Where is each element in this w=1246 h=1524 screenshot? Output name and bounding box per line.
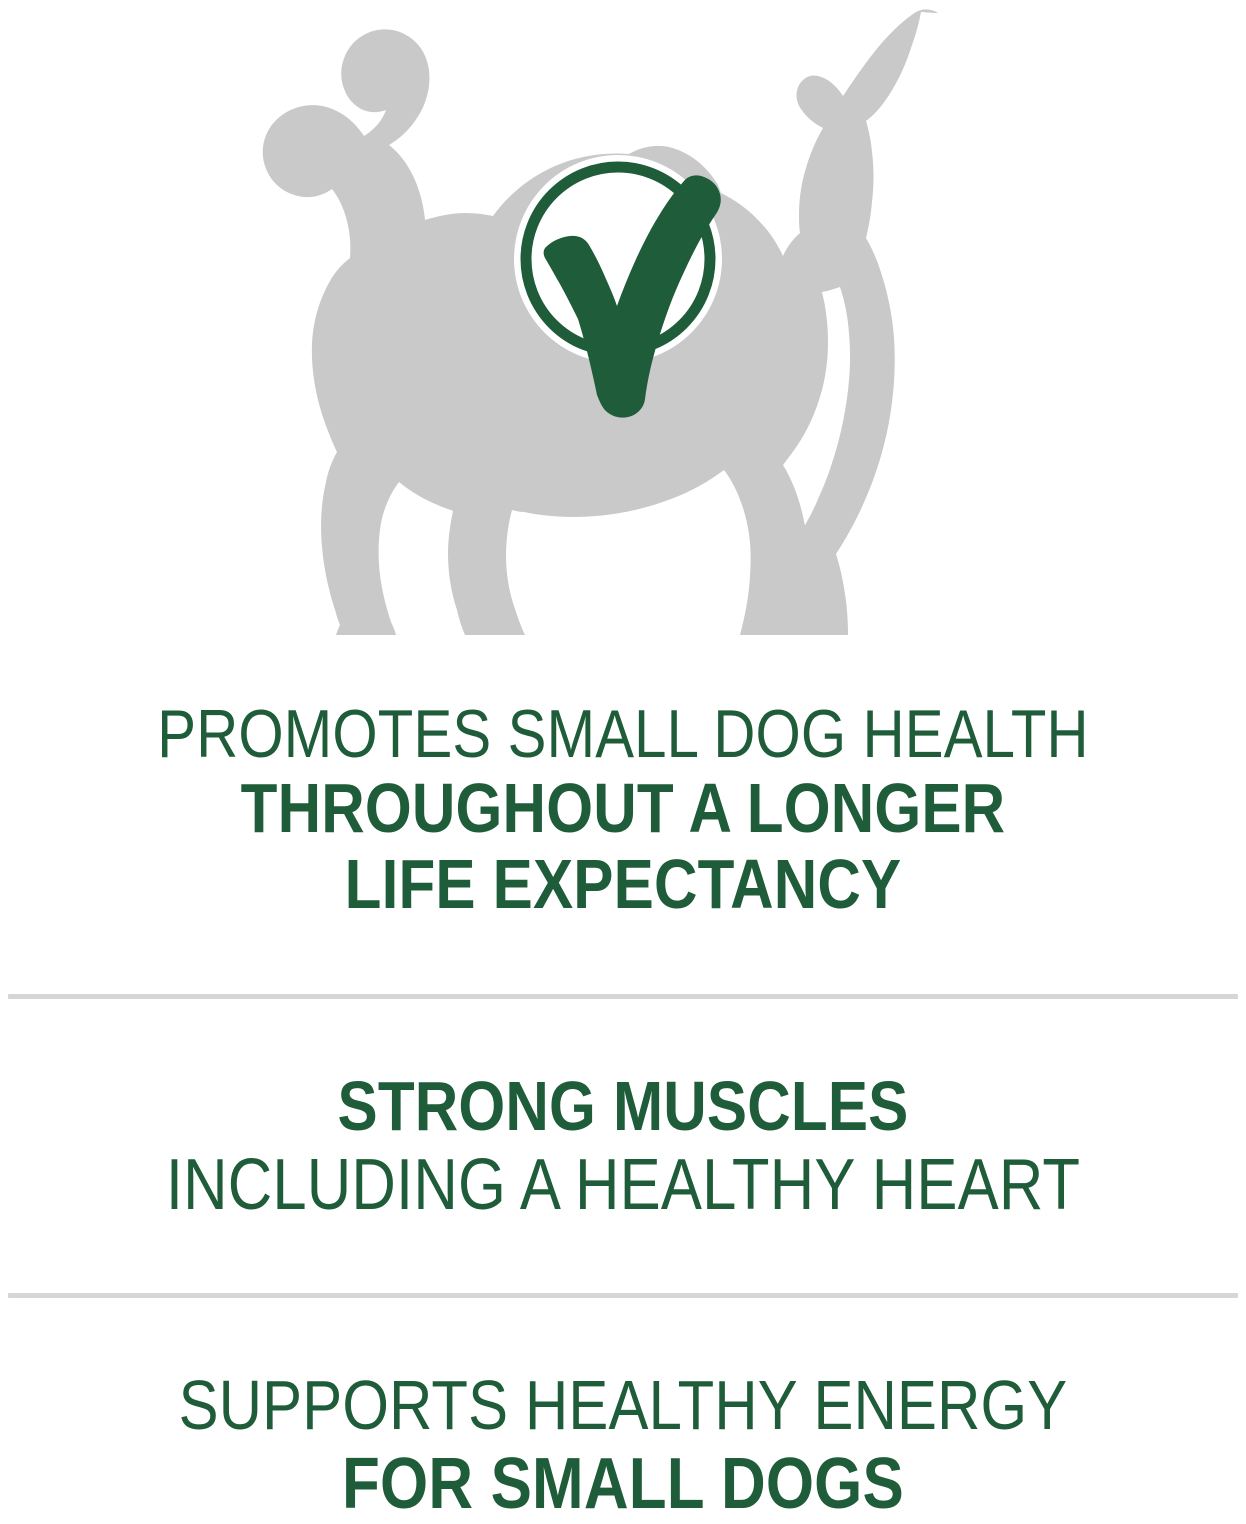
benefit-line: FOR SMALL DOGS (87, 1444, 1159, 1524)
benefit-healthy-energy: SUPPORTS HEALTHY ENERGY FOR SMALL DOGS (0, 1298, 1246, 1524)
hero-illustration (0, 0, 1246, 660)
benefit-line: THROUGHOUT A LONGER (87, 770, 1159, 846)
benefit-strong-muscles: STRONG MUSCLES INCLUDING A HEALTHY HEART (0, 999, 1246, 1225)
benefit-line: INCLUDING A HEALTHY HEART (90, 1145, 1155, 1225)
benefit-life-expectancy: PROMOTES SMALL DOG HEALTH THROUGHOUT A L… (0, 660, 1246, 922)
benefits-list: PROMOTES SMALL DOG HEALTH THROUGHOUT A L… (0, 660, 1246, 1524)
benefit-line: STRONG MUSCLES (87, 1067, 1159, 1145)
benefit-line: SUPPORTS HEALTHY ENERGY (90, 1366, 1155, 1444)
benefit-line: PROMOTES SMALL DOG HEALTH (90, 698, 1155, 770)
product-benefits-infographic: PROMOTES SMALL DOG HEALTH THROUGHOUT A L… (0, 0, 1246, 1500)
benefit-line: LIFE EXPECTANCY (87, 846, 1159, 922)
